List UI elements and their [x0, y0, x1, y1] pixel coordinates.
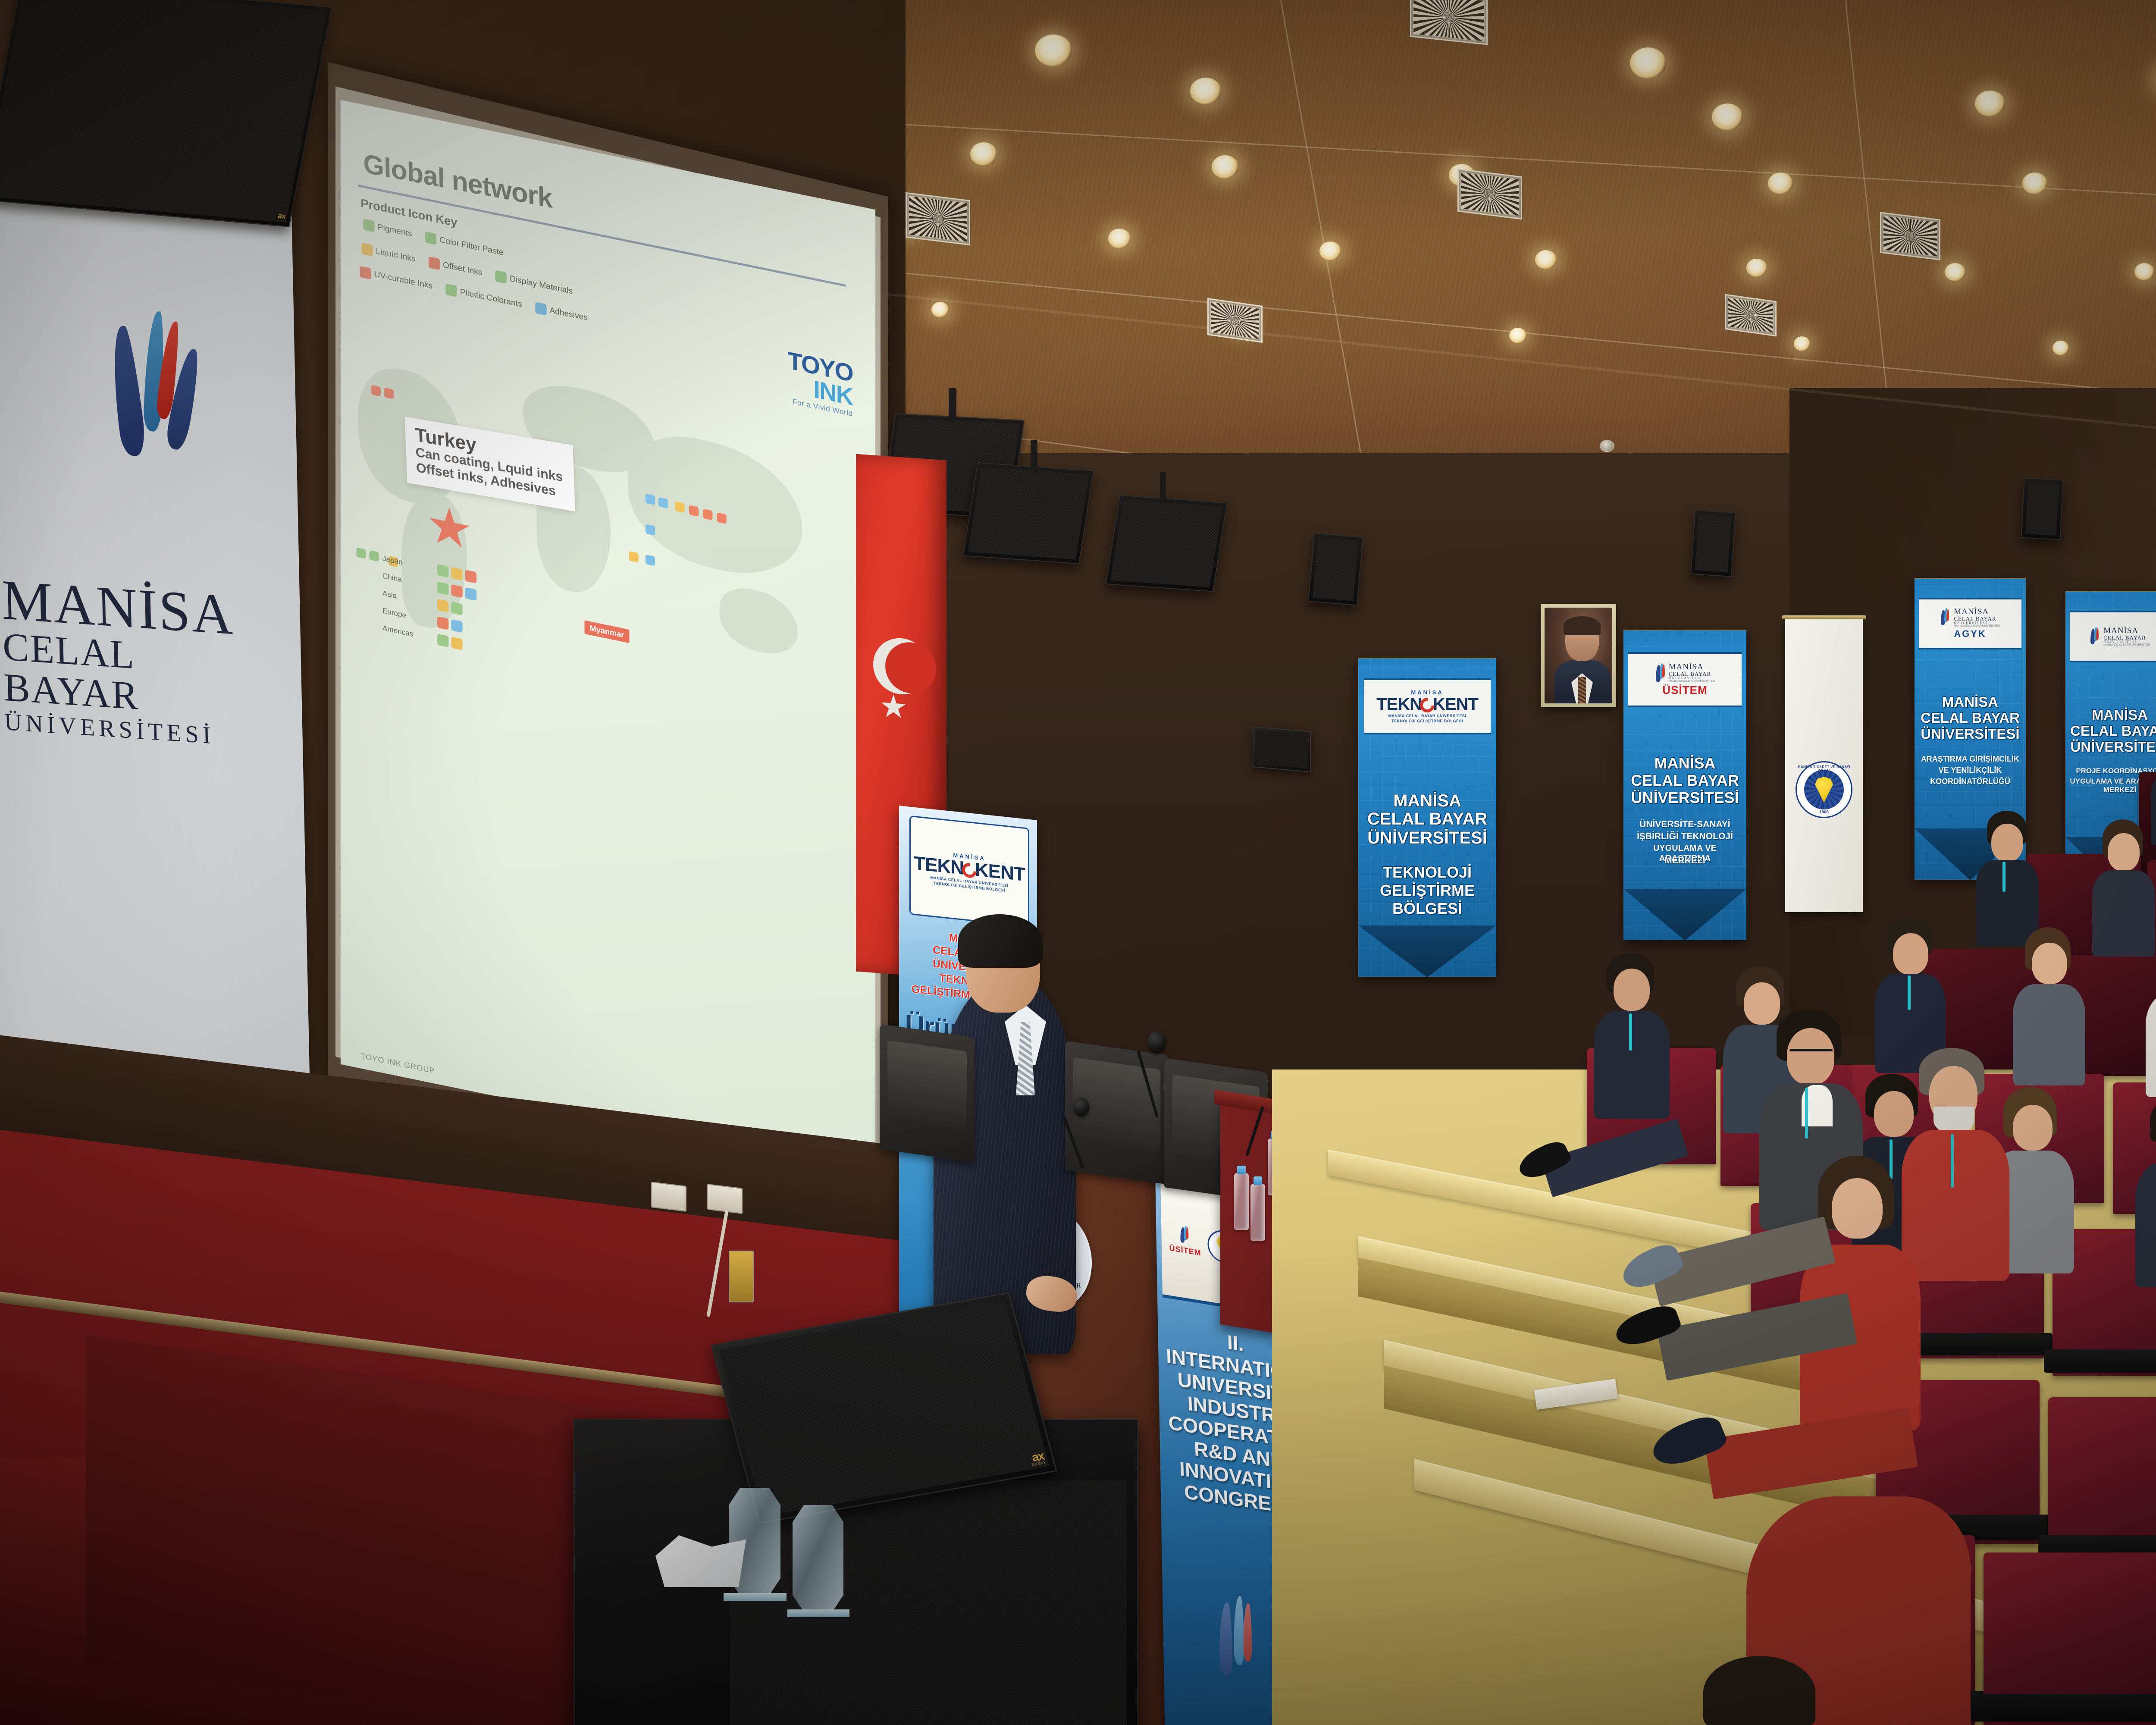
microphone-head-icon [1074, 1098, 1089, 1117]
award-plaque-base [724, 1593, 787, 1601]
ceiling-downlight [1945, 263, 1965, 281]
world-map-graphic [349, 289, 841, 1065]
person-torso [2013, 984, 2085, 1085]
teknokent-logo: MANİSA TEKNKENT MANİSA CELAL BAYAR ÜNİVE… [914, 848, 1025, 894]
map-pin-chip [646, 524, 655, 536]
projection-screen: Global network Product Icon Key TOYO INK… [328, 62, 888, 1240]
banner-rod [1358, 658, 1496, 659]
flame-logo-icon [1655, 663, 1666, 682]
person-face [1744, 982, 1780, 1025]
legend-label: Color Filter Paste [439, 235, 503, 258]
map-pin-chip [675, 501, 685, 513]
hvac-diffuser [1207, 298, 1263, 343]
legend-label: Display Materials [510, 274, 573, 296]
ceiling-downlight [1768, 172, 1793, 194]
award-plaque-base [787, 1609, 849, 1617]
region-label: China [382, 571, 435, 591]
mcbu-logo: MANİSA CELAL BAYAR ÜNİVERSİTESİ MANİSA C… [1940, 608, 2000, 627]
legend-swatch [361, 243, 373, 257]
ceiling-downlight [1212, 155, 1238, 179]
wall-outlet-panel [729, 1251, 754, 1302]
mcbu-logo-subline: MANİSA CELAL BAYAR ÜNİVERSİTESİ [1669, 680, 1715, 683]
banner-sub-2: GELİŞTİRME [1364, 882, 1491, 899]
person-torso [2092, 870, 2155, 957]
presentation-slide: Global network Product Icon Key TOYO INK… [341, 100, 875, 1174]
legend-swatch [363, 219, 374, 232]
person-face [1832, 1178, 1883, 1239]
person-face [1991, 824, 2023, 862]
map-pin-chip [646, 555, 655, 566]
map-pin-chip [717, 512, 727, 524]
flag-rod [1782, 615, 1866, 619]
audience-seat [2048, 1397, 2156, 1565]
mcbu-logo: MANİSA CELAL BAYAR ÜNİVERSİTESİ MANİSA C… [1655, 663, 1715, 683]
speaker-bracket [1160, 472, 1166, 503]
wall-outlet [707, 1184, 743, 1214]
speaker-bracket [1031, 440, 1037, 473]
chamber-seal: MANİSA TİCARET VE SANAYİ ODASI 1906 [1796, 761, 1852, 818]
award-plaque [793, 1505, 843, 1612]
teknokent-logo-word: TEKNKENT [1376, 695, 1478, 713]
legend-item: UV-curable Inks [360, 266, 432, 292]
lanyard [1805, 1088, 1808, 1138]
university-name-block: MANİSA CELAL BAYAR ÜNİVERSİTESİ [1, 572, 281, 755]
person-face [1874, 1091, 1914, 1137]
person-torso [1902, 1130, 2009, 1281]
microphone-head-icon [1148, 1031, 1166, 1053]
legend-swatch [429, 257, 440, 270]
map-pin-chip [384, 388, 394, 399]
banner-tip [1358, 925, 1496, 977]
legend-item: Liquid Inks [361, 243, 415, 265]
ceiling-downlight [931, 302, 949, 317]
congress-logo-left: ÜSİTEM [1169, 1244, 1201, 1258]
water-bottle [1250, 1184, 1265, 1241]
person-hair [1703, 1656, 1815, 1725]
hvac-diffuser [1880, 212, 1940, 260]
banner-rod [1915, 578, 2026, 579]
legend-item: Plastic Colorants [445, 283, 522, 310]
pennant-banner-usitem: MANİSA CELAL BAYAR ÜNİVERSİTESİ MANİSA C… [1623, 630, 1746, 940]
legend-swatch [495, 270, 507, 284]
banner-logo-box: MANİSA CELAL BAYAR ÜNİVERSİTESİ MANİSA C… [1919, 598, 2021, 649]
person-face [2013, 1105, 2053, 1151]
hanging-loudspeaker [1308, 533, 1363, 605]
banner-sub-3: KOORDİNATÖRLÜĞÜ [1918, 777, 2023, 786]
person-torso [2135, 1162, 2156, 1287]
map-pin-chip [371, 385, 381, 397]
water-bottle [1234, 1173, 1249, 1230]
mcbu-logo: MANİSA CELAL BAYAR ÜNİVERSİTESİ MANİSA C… [2090, 627, 2150, 646]
banner-rod [2065, 591, 2156, 592]
lanyard [1951, 1134, 1954, 1188]
mcbu-wordmark: MANİSA CELAL BAYAR ÜNİVERSİTESİ MANİSA C… [2103, 627, 2150, 646]
legend-item: Color Filter Paste [425, 232, 504, 259]
hanging-loudspeaker [1105, 495, 1227, 592]
banner-sub-1: TEKNOLOJİ [1364, 864, 1491, 881]
banner-logo-box: MANİSA CELAL BAYAR ÜNİVERSİTESİ MANİSA C… [1628, 652, 1741, 707]
legend-swatch [535, 302, 546, 316]
flame-logo-icon [2090, 627, 2101, 646]
legend-label: Pigments [378, 223, 412, 239]
banner-tip [1623, 889, 1746, 940]
grape-cluster-icon [1813, 777, 1835, 803]
lanyard [1890, 1139, 1893, 1179]
screen-surface: Global network Product Icon Key TOYO INK… [335, 86, 881, 1187]
banner-logo-box: MANİSA CELAL BAYAR ÜNİVERSİTESİ MANİSA C… [2070, 611, 2156, 662]
gear-ring-icon [959, 860, 980, 880]
banner-title-1: MANİSA [2070, 707, 2156, 723]
ceiling-downlight [970, 142, 997, 166]
legend-swatch [445, 283, 457, 297]
seal-ring-text: MANİSA TİCARET VE SANAYİ ODASI [1797, 765, 1851, 773]
mcbu-logo-subline: MANİSA CELAL BAYAR ÜNİVERSİTESİ [1954, 625, 2000, 627]
star-icon: ★ [879, 706, 908, 708]
ceiling-downlight [1535, 250, 1557, 269]
legend-label: Liquid Inks [376, 247, 416, 264]
banner-logo-box: MANİSA TEKNKENT MANİSA CELAL BAYAR ÜNİVE… [1364, 678, 1491, 734]
flame-logo-icon [1179, 1225, 1191, 1245]
speaker-bracket [949, 388, 956, 423]
ceiling-downlight [1190, 78, 1221, 104]
gear-icon [1804, 770, 1844, 809]
lanyard [1908, 975, 1911, 1010]
banner-sub-4: MERKEZİ [1627, 856, 1743, 866]
legend-label: Offset Inks [443, 260, 482, 278]
audience-seat [1984, 1552, 2156, 1725]
map-pin-chip [629, 551, 638, 563]
legend-item: Offset Inks [429, 257, 483, 279]
banner-title-3: ÜNİVERSİTESİ [2070, 739, 2156, 755]
portrait-canvas [1545, 608, 1612, 703]
banner-title-2: CELAL BAYAR [1919, 710, 2021, 726]
map-pin-chip [658, 497, 668, 509]
map-pin-chip [356, 547, 366, 559]
banner-title-3: ÜNİVERSİTESİ [1364, 828, 1491, 847]
ceiling-downlight [2022, 172, 2047, 194]
mcbu-logo-subline: MANİSA CELAL BAYAR ÜNİVERSİTESİ [2103, 644, 2150, 646]
ceiling-downlight [1108, 229, 1131, 248]
banner-title-3: ÜNİVERSİTESİ [1628, 789, 1741, 806]
banner-sub-1: ARAŞTIRMA GİRİŞİMCİLİK [1918, 755, 2023, 764]
ceiling-downlight [1712, 103, 1743, 130]
banner-sub-1: ÜNİVERSİTE-SANAYİ [1627, 819, 1743, 830]
banner-title-1: MANİSA [1364, 791, 1491, 810]
hvac-diffuser [906, 192, 970, 245]
pennant-banner-teknokent: MANİSA TEKNKENT MANİSA CELAL BAYAR ÜNİVE… [1358, 658, 1496, 977]
banner-title-1: MANİSA [1919, 694, 2021, 710]
ceiling-downlight [2134, 263, 2154, 280]
person-face [2032, 943, 2067, 984]
hvac-diffuser [1457, 169, 1522, 220]
mcbu-wordmark: MANİSA CELAL BAYAR ÜNİVERSİTESİ MANİSA C… [1669, 663, 1715, 683]
congress-logo-usitem: ÜSİTEM [1169, 1223, 1201, 1258]
banner-sub-2: İŞBİRLİĞİ TEKNOLOJİ [1627, 831, 1743, 842]
mcbu-wordmark: MANİSA CELAL BAYAR ÜNİVERSİTESİ MANİSA C… [1954, 608, 2000, 627]
hanging-loudspeaker [2021, 478, 2063, 540]
region-label: Europe [382, 606, 435, 626]
seal-year: 1906 [1797, 810, 1851, 815]
map-pin-chip [370, 550, 379, 562]
legend-swatch [425, 232, 436, 245]
chamber-of-commerce-flag: MANİSA TİCARET VE SANAYİ ODASI 1906 [1785, 619, 1863, 912]
legend-label: Adhesives [549, 306, 588, 323]
crescent-icon [873, 636, 929, 696]
banner-title-1: MANİSA [1628, 755, 1741, 772]
usitem-logo-word: ÜSİTEM [1662, 684, 1707, 697]
ceiling-downlight [1509, 328, 1526, 343]
map-pin-chip [703, 509, 712, 521]
teknokent-logo: MANİSA TEKNKENT MANİSA CELAL BAYAR ÜNİVE… [1376, 690, 1478, 723]
person-face [1614, 969, 1650, 1011]
auditorium-photograph: Global network Product Icon Key TOYO INK… [0, 0, 2156, 1725]
agyk-logo-word: AGYK [1954, 628, 1987, 640]
teknokent-logo-sub1: MANİSA CELAL BAYAR ÜNİVERSİTESİ [1376, 714, 1478, 718]
legend-swatch [360, 266, 371, 280]
banner-title-2: CELAL BAYAR [1364, 809, 1491, 828]
gear-ring-icon [1417, 695, 1438, 715]
smoke-detector [1600, 440, 1614, 452]
lanyard [2002, 862, 2006, 892]
map-pin-chip [689, 505, 699, 517]
hanging-loudspeaker: ax [0, 0, 332, 227]
banner-title-2: CELAL BAYAR [1628, 772, 1741, 789]
lanyard [1629, 1013, 1632, 1051]
legend-item: Pigments [363, 219, 412, 240]
region-label: Asia [382, 589, 435, 608]
presenter-hair [958, 914, 1043, 968]
person-face [2108, 833, 2140, 871]
legend-label: Plastic Colorants [460, 287, 522, 310]
stage-chair [880, 1024, 975, 1163]
hvac-diffuser [1725, 294, 1777, 337]
ceiling-downlight [1746, 259, 1767, 277]
legend-label: UV-curable Inks [374, 270, 432, 291]
legend-item: Display Materials [495, 270, 573, 298]
hanging-loudspeaker [1690, 510, 1736, 577]
portrait-tie [1578, 677, 1586, 703]
ceiling-downlight [1794, 336, 1810, 351]
banner-title-2: CELAL BAYAR [2070, 723, 2156, 739]
banner-rod [1623, 630, 1746, 630]
banner-sub-3: BÖLGESİ [1364, 900, 1491, 917]
ceiling-downlight [1319, 241, 1341, 260]
flame-logo-icon [1214, 1592, 1268, 1691]
rollup-logo-box: MANİSA TEKNKENT MANİSA CELAL BAYAR ÜNİVE… [909, 815, 1029, 927]
wall-speaker-box [1253, 726, 1311, 772]
banner-sub-2: VE YENİLİKÇİLİK [1918, 766, 2023, 775]
banner-title-3: ÜNİVERSİTESİ [1919, 726, 2021, 742]
flame-logo-icon [1940, 608, 1951, 627]
eyeglasses-icon [1789, 1049, 1833, 1057]
person-face [1893, 933, 1928, 975]
person-torso [1976, 860, 2039, 946]
wall-outlet [651, 1182, 686, 1212]
portrait-hair [1564, 616, 1601, 635]
ceiling-downlight [2053, 341, 2069, 355]
ceiling-downlight [1630, 47, 1666, 78]
slide-footer: TOYO INK GROUP [360, 1051, 435, 1076]
ataturk-portrait [1541, 604, 1616, 707]
ceiling-downlight [1035, 34, 1072, 66]
flame-logo-icon [104, 307, 219, 470]
hanging-loudspeaker [963, 462, 1094, 564]
region-label: Americas [382, 624, 435, 643]
map-pin-chip [646, 493, 655, 505]
legend-item: Adhesives [535, 302, 588, 324]
teknokent-logo-sub2: TEKNOLOJİ GELİŞTİRME BÖLGESİ [1376, 719, 1478, 723]
ceiling-downlight [1975, 91, 2005, 116]
